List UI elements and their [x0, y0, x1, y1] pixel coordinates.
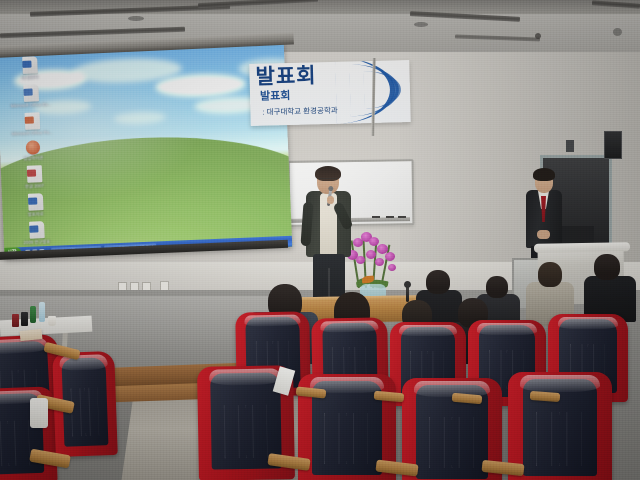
desktop-icon-label: 내 컴퓨터: [1, 73, 59, 80]
desktop-icon-label: 2009 연구발표: [8, 238, 66, 245]
document-icon: [22, 56, 38, 74]
desktop-icon[interactable]: 발표자료: [6, 192, 65, 217]
projection-screen: 내 컴퓨터 Microsoft Office Ex... Microsoft O…: [0, 42, 292, 259]
desktop-icon[interactable]: Microsoft Office Ex...: [1, 83, 60, 108]
green-bottle-icon: [30, 306, 36, 323]
photo-scene: 내 컴퓨터 Microsoft Office Ex... Microsoft O…: [0, 0, 640, 480]
excel-icon: [23, 84, 39, 102]
clasped-hands: [537, 230, 550, 239]
suited-man-hair: [533, 168, 555, 181]
ceiling-vent: [128, 16, 144, 21]
desktop-icon-label: 한글 2007: [5, 182, 63, 189]
desktop-icon-column: 내 컴퓨터 Microsoft Office Ex... Microsoft O…: [0, 55, 70, 259]
seat-highlight: [320, 320, 378, 333]
audience-head: [486, 276, 508, 298]
wall-speaker-icon: [566, 140, 574, 152]
banner-subtitle: 발표회: [260, 90, 291, 104]
red-can-icon: [12, 314, 19, 327]
whiteboard-marker: [372, 216, 380, 218]
podium-top: [534, 242, 630, 253]
wallpaper-cloud: [114, 110, 166, 124]
water-bottle-icon: [39, 302, 45, 322]
orchid-bloom: [375, 258, 384, 266]
banner-title: 발표회: [255, 64, 317, 89]
document-icon: [29, 221, 45, 239]
powerpoint-icon: [24, 112, 40, 130]
banner-organization: : 대구대학교 환경공학과: [262, 106, 337, 118]
desktop-icon-label: Microsoft Office Ex...: [2, 101, 60, 108]
dark-can-icon: [21, 312, 28, 326]
orchid-bloom: [366, 250, 376, 259]
whiteboard-marker: [386, 216, 394, 218]
desktop-icon-label: Microsoft Office Po...: [3, 129, 61, 136]
seat-highlight: [244, 314, 300, 327]
archive-icon: [26, 140, 41, 155]
desktop-icon[interactable]: 2009 연구발표: [7, 220, 66, 245]
paper-cup-icon: [48, 316, 56, 326]
desktop-icon[interactable]: 한글 2007: [5, 164, 64, 189]
seat-highlight: [399, 325, 457, 337]
desktop-icon[interactable]: 알집아이콘: [4, 139, 63, 161]
ceiling-vent: [414, 22, 428, 27]
desktop-icon-label: 발표자료: [7, 210, 65, 217]
ceiling-sensor: [535, 33, 541, 39]
handout-paper: [30, 398, 48, 428]
glasses-icon: [319, 178, 338, 183]
desktop-icon[interactable]: Microsoft Office Po...: [3, 111, 62, 136]
audience-head: [594, 254, 620, 280]
document-icon: [27, 193, 43, 211]
orchid-bloom: [388, 264, 396, 271]
seat-highlight: [520, 375, 599, 391]
wall-speaker-icon: [604, 131, 622, 159]
ceiling-vent: [613, 28, 622, 36]
seat-highlight: [558, 317, 619, 329]
hangul-icon: [26, 165, 42, 183]
event-banner: 발표회 발표회 : 대구대학교 환경공학과: [249, 60, 410, 126]
seat-highlight: [477, 323, 536, 335]
table-microphone-icon: [406, 286, 409, 302]
audience-head: [538, 262, 562, 287]
desktop-icon[interactable]: 내 컴퓨터: [0, 55, 59, 80]
whiteboard-marker: [398, 216, 406, 218]
auditorium-seat[interactable]: [508, 372, 612, 480]
presenter-hand: [327, 196, 334, 204]
desktop-icon-label: 알집아이콘: [4, 154, 62, 161]
orchid-bloom: [385, 252, 395, 261]
